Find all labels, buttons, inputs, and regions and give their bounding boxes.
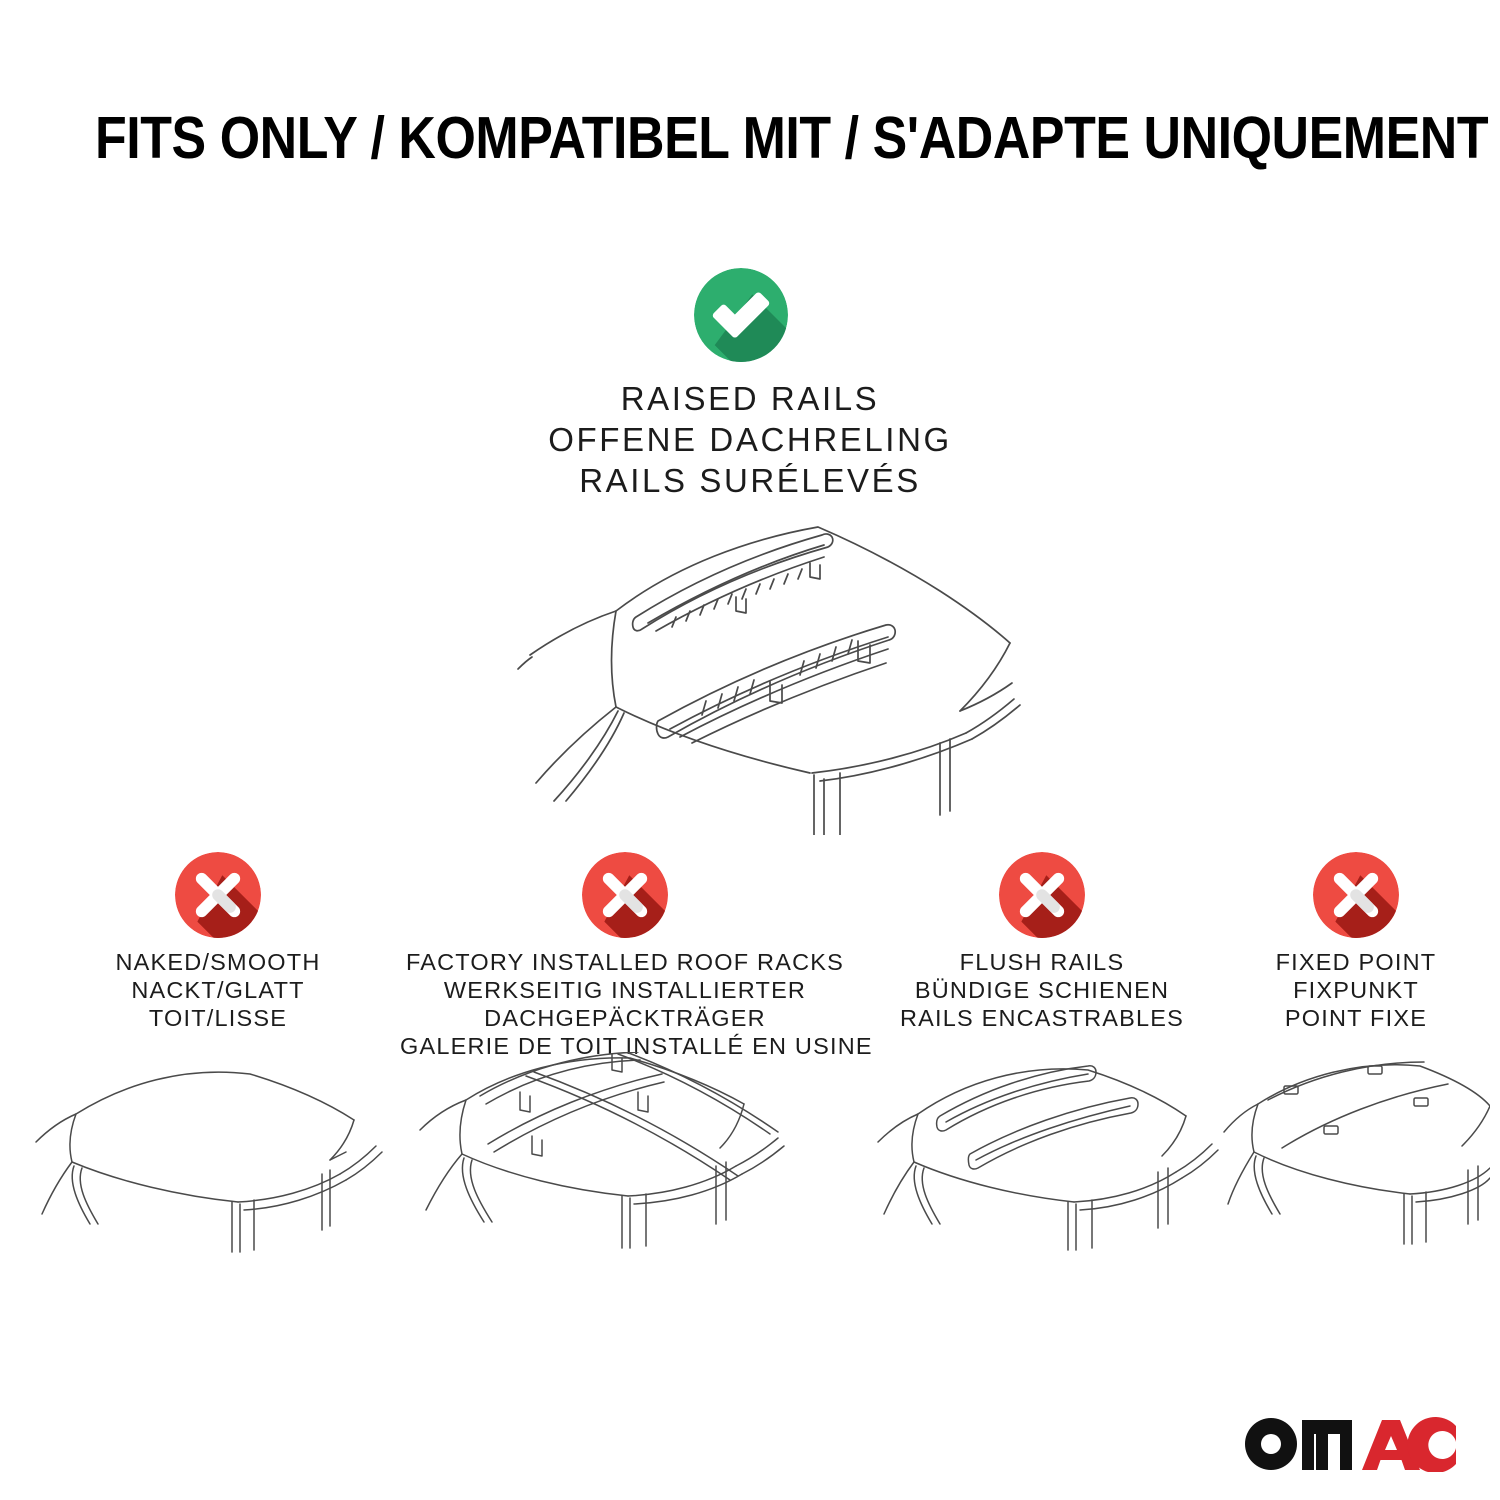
x-circle-icon (175, 852, 261, 938)
logo-letter-c (1407, 1417, 1456, 1472)
label-line-fr: RAILS ENCASTRABLES (862, 1004, 1222, 1032)
incompatible-labels: FLUSH RAILS BÜNDIGE SCHIENEN RAILS ENCAS… (862, 948, 1222, 1032)
label-line-fr: POINT FIXE (1222, 1004, 1490, 1032)
incompatible-item-flush-rails: FLUSH RAILS BÜNDIGE SCHIENEN RAILS ENCAS… (862, 852, 1222, 1322)
incompatible-item-fixed-point: FIXED POINT FIXPUNKT POINT FIXE (1222, 852, 1490, 1322)
check-circle-icon (694, 268, 788, 362)
page-title: FITS ONLY / KOMPATIBEL MIT / S'ADAPTE UN… (95, 104, 1488, 172)
x-circle-icon (582, 852, 668, 938)
x-circle-icon (999, 852, 1085, 938)
label-line-en: FIXED POINT (1222, 948, 1490, 976)
logo-letter-o (1245, 1418, 1297, 1470)
car-roof-naked-smooth-illustration (28, 1052, 408, 1272)
label-line-de: BÜNDIGE SCHIENEN (862, 976, 1222, 1004)
car-roof-raised-rails-illustration (420, 505, 1090, 835)
label-line-de: NACKT/GLATT (28, 976, 408, 1004)
incompatible-labels: NAKED/SMOOTH NACKT/GLATT TOIT/LISSE (28, 948, 408, 1032)
compatible-label-en: RAISED RAILS (350, 378, 1150, 419)
car-roof-factory-racks-illustration (400, 1052, 850, 1272)
incompatible-row: NAKED/SMOOTH NACKT/GLATT TOIT/LISSE (0, 852, 1500, 1322)
incompatible-labels: FIXED POINT FIXPUNKT POINT FIXE (1222, 948, 1490, 1032)
label-line-en: FLUSH RAILS (862, 948, 1222, 976)
incompatible-labels: FACTORY INSTALLED ROOF RACKS WERKSEITIG … (400, 948, 850, 1060)
logo-letter-m (1302, 1420, 1352, 1470)
label-line-fr: TOIT/LISSE (28, 1004, 408, 1032)
compatible-label-de: OFFENE DACHRELING (350, 419, 1150, 460)
x-circle-icon (1313, 852, 1399, 938)
label-line-de-2: DACHGEPÄCKTRÄGER (400, 1004, 850, 1032)
omac-logo (1240, 1410, 1458, 1472)
car-roof-flush-rails-illustration (862, 1052, 1222, 1272)
compatible-labels: RAISED RAILS OFFENE DACHRELING RAILS SUR… (350, 378, 1150, 501)
label-line-de-1: WERKSEITIG INSTALLIERTER (400, 976, 850, 1004)
incompatible-item-naked-smooth: NAKED/SMOOTH NACKT/GLATT TOIT/LISSE (28, 852, 408, 1322)
label-line-en: NAKED/SMOOTH (28, 948, 408, 976)
label-line-en: FACTORY INSTALLED ROOF RACKS (400, 948, 850, 976)
compatible-label-fr: RAILS SURÉLEVÉS (350, 460, 1150, 501)
page-header: FITS ONLY / KOMPATIBEL MIT / S'ADAPTE UN… (0, 104, 1500, 172)
incompatible-item-factory-racks: FACTORY INSTALLED ROOF RACKS WERKSEITIG … (400, 852, 850, 1322)
label-line-de: FIXPUNKT (1222, 976, 1490, 1004)
car-roof-fixed-point-illustration (1222, 1052, 1490, 1272)
